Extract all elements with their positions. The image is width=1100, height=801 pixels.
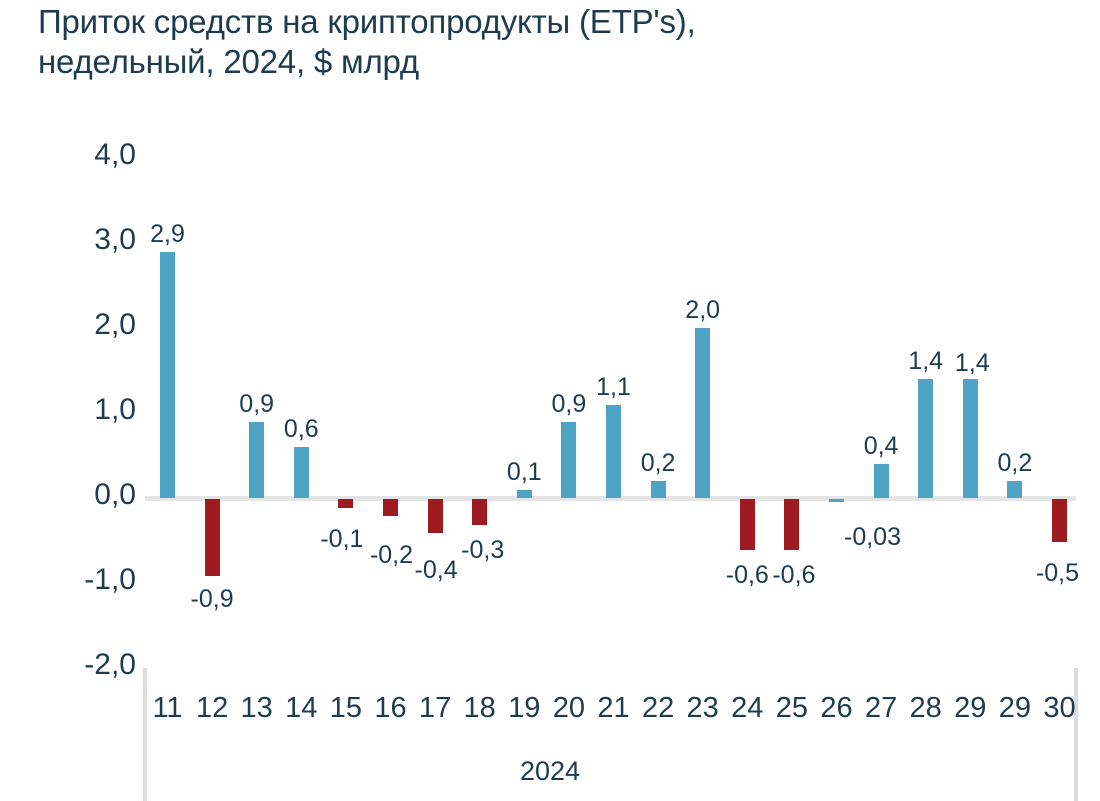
x-axis-tick-15: 26 (820, 692, 852, 725)
data-label-17: -0,4 (415, 556, 458, 585)
data-label-13: 0,9 (239, 390, 274, 419)
y-axis-tick-label: 1,0 (40, 393, 136, 427)
x-axis-tick-6: 17 (419, 692, 451, 725)
bar-29-positive[interactable] (963, 379, 978, 498)
y-axis-tick-label: 0,0 (40, 478, 136, 512)
bar-13-positive[interactable] (249, 422, 264, 499)
data-label-29: 0,2 (998, 449, 1033, 478)
bar-14-positive[interactable] (294, 447, 309, 498)
bar-16-negative[interactable] (383, 499, 398, 516)
bar-22-positive[interactable] (651, 481, 666, 498)
bar-27-positive[interactable] (874, 464, 889, 498)
data-label-26: -0,03 (844, 523, 901, 552)
data-label-16: -0,2 (370, 541, 413, 570)
data-label-24: -0,6 (726, 561, 769, 590)
data-label-28: 1,4 (908, 347, 943, 376)
y-axis-tick-label: -1,0 (40, 563, 136, 597)
data-label-29: 1,4 (955, 349, 990, 378)
x-axis-tick-3: 14 (285, 692, 317, 725)
bar-12-negative[interactable] (205, 499, 220, 576)
x-axis-tick-20: 30 (1043, 692, 1075, 725)
bar-28-positive[interactable] (918, 379, 933, 498)
x-axis-tick-8: 19 (508, 692, 540, 725)
x-axis-tick-0: 11 (152, 692, 182, 725)
data-label-27: 0,4 (864, 432, 899, 461)
x-axis-tick-5: 16 (374, 692, 406, 725)
data-label-30: -0,5 (1036, 559, 1079, 588)
data-label-19: 0,1 (507, 458, 542, 487)
bar-21-positive[interactable] (606, 405, 621, 499)
bar-19-positive[interactable] (517, 490, 532, 499)
chart-plot-area: 4,03,02,01,00,0-1,0-2,0 2,9-0,90,90,6-0,… (0, 0, 1100, 801)
x-axis-tick-2: 13 (241, 692, 273, 725)
x-axis-tick-1: 12 (196, 692, 228, 725)
x-axis-tick-19: 29 (999, 692, 1031, 725)
x-axis-tick-11: 22 (642, 692, 674, 725)
data-label-11: 2,9 (150, 220, 185, 249)
bar-30-negative[interactable] (1052, 499, 1067, 542)
data-label-23: 2,0 (685, 296, 720, 325)
x-axis-tick-14: 25 (776, 692, 808, 725)
bar-15-negative[interactable] (338, 499, 353, 508)
data-label-12: -0,9 (191, 585, 234, 614)
x-axis-tick-4: 15 (330, 692, 362, 725)
bar-20-positive[interactable] (561, 422, 576, 499)
bar-18-negative[interactable] (472, 499, 487, 525)
bar-24-negative[interactable] (740, 499, 755, 550)
data-label-21: 1,1 (596, 373, 631, 402)
bar-11-positive[interactable] (160, 252, 175, 499)
bar-29-positive[interactable] (1007, 481, 1022, 498)
y-axis-tick-label: 4,0 (40, 138, 136, 172)
x-axis-tick-17: 28 (910, 692, 942, 725)
x-axis-tick-18: 29 (954, 692, 986, 725)
x-axis-tick-12: 23 (687, 692, 719, 725)
bar-26-negative[interactable] (829, 499, 844, 502)
bar-25-negative[interactable] (784, 499, 799, 550)
x-axis-caption: 2024 (0, 756, 1100, 787)
x-axis-tick-13: 24 (731, 692, 763, 725)
data-label-25: -0,6 (772, 561, 815, 590)
data-label-18: -0,3 (461, 536, 504, 565)
bar-23-positive[interactable] (695, 328, 710, 498)
data-label-15: -0,1 (320, 525, 363, 554)
y-axis-tick-label: -2,0 (40, 648, 136, 682)
data-label-20: 0,9 (552, 390, 587, 419)
y-axis-tick-label: 3,0 (40, 223, 136, 257)
x-axis-tick-7: 18 (464, 692, 496, 725)
y-axis-tick-label: 2,0 (40, 308, 136, 342)
x-axis-tick-10: 21 (597, 692, 629, 725)
data-label-14: 0,6 (284, 415, 319, 444)
bar-17-negative[interactable] (428, 499, 443, 533)
x-axis-tick-16: 27 (865, 692, 897, 725)
data-label-22: 0,2 (641, 449, 676, 478)
x-axis-tick-9: 20 (553, 692, 585, 725)
